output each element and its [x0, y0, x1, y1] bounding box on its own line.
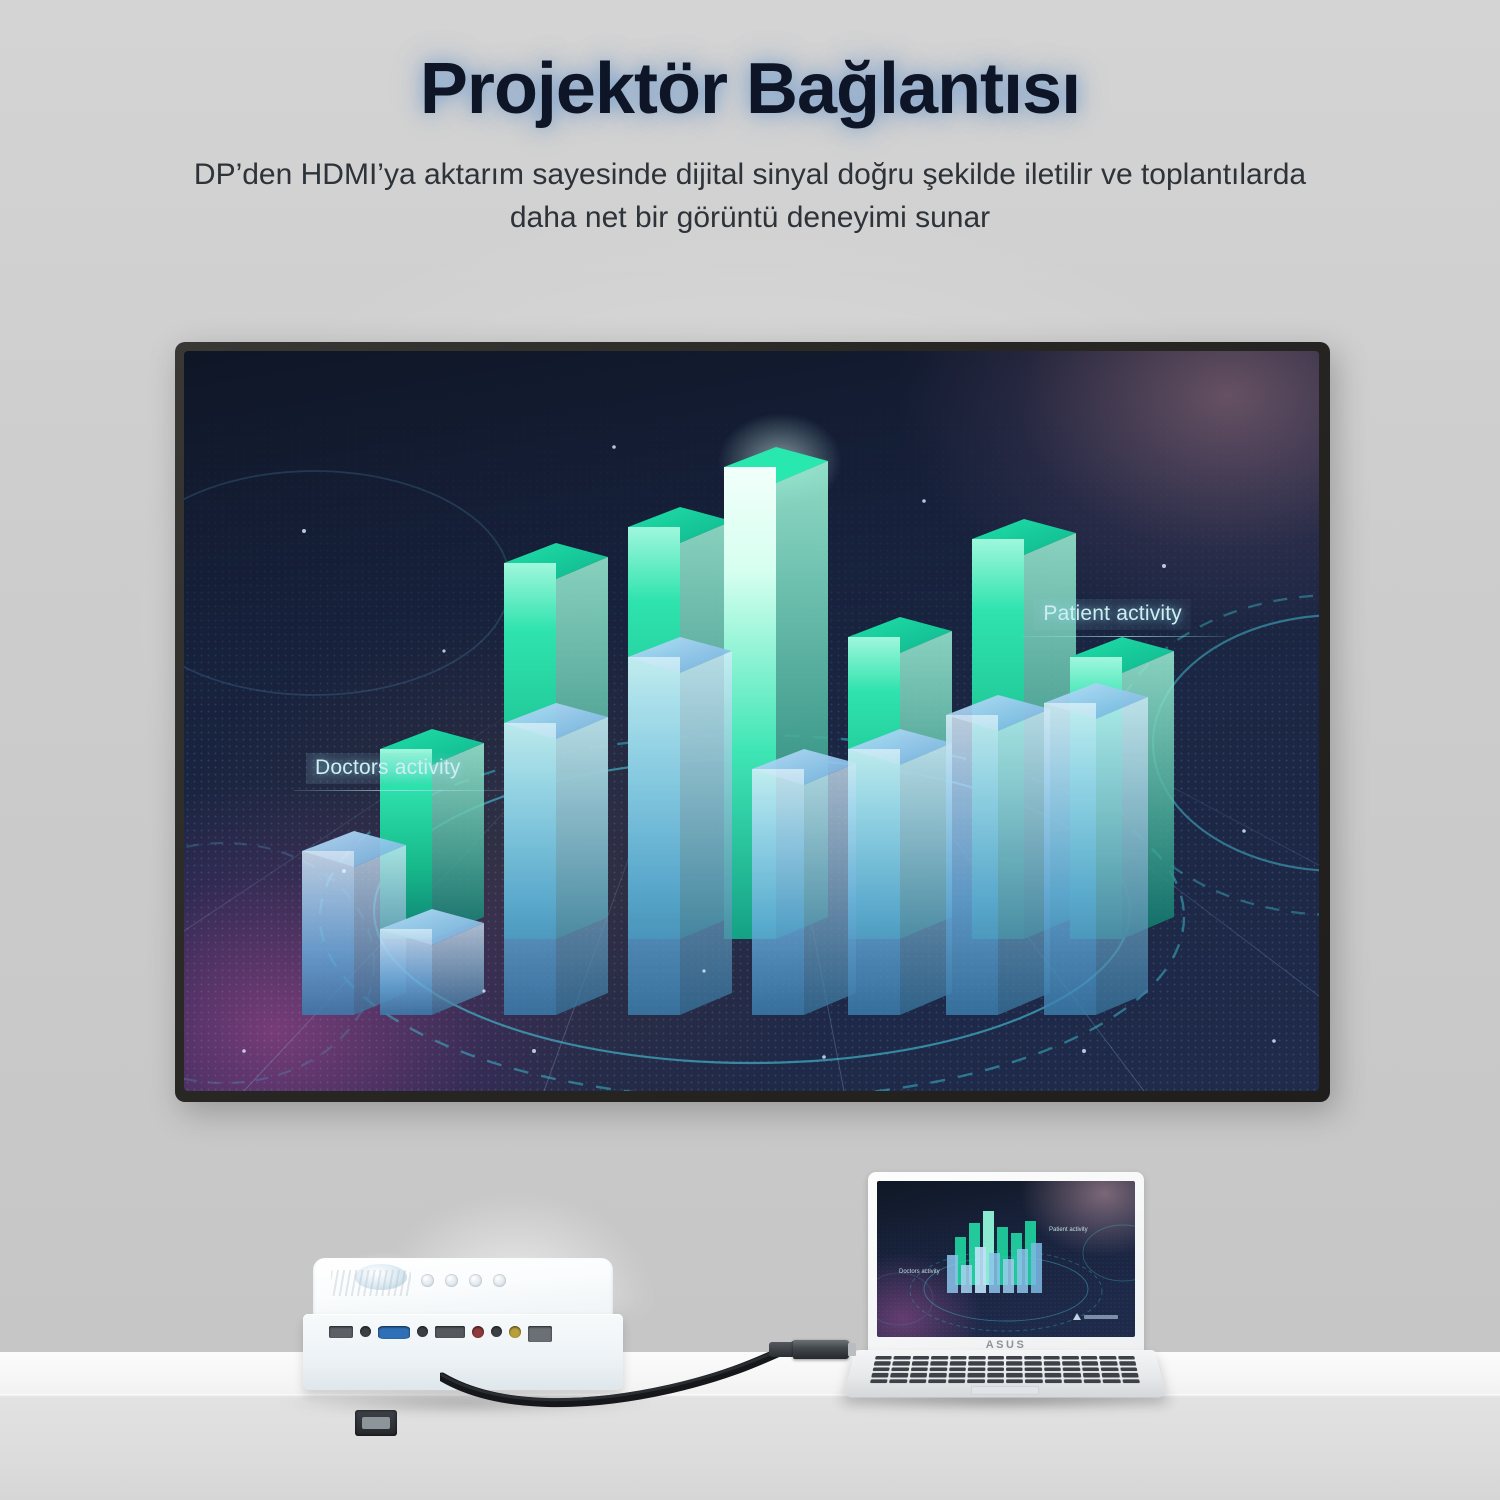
displayport-connector[interactable]: [793, 1340, 849, 1359]
legend-patient-activity: Patient activity: [1034, 599, 1191, 630]
page-title: Projektör Bağlantısı: [0, 48, 1500, 130]
connection-cable: [440, 1315, 860, 1410]
audio-in-port-icon[interactable]: [360, 1326, 371, 1337]
cable-collar: [769, 1342, 795, 1357]
projection-screen: Patient activity Doctors activity: [175, 342, 1330, 1102]
screen-frame: Patient activity Doctors activity: [175, 342, 1330, 1102]
projector-vent: [331, 1270, 411, 1296]
header: Projektör Bağlantısı DP’den HDMI’ya akta…: [0, 0, 1500, 239]
laptop-chart-mirror: Patient activity Doctors activity: [877, 1181, 1135, 1337]
svg-text:Doctors activity: Doctors activity: [899, 1269, 940, 1275]
keyboard-row: [873, 1367, 1138, 1371]
projector-button[interactable]: [493, 1274, 506, 1287]
projector-button[interactable]: [469, 1274, 482, 1287]
keyboard-row: [871, 1373, 1138, 1377]
projector-button[interactable]: [445, 1274, 458, 1287]
screen-surface: Patient activity Doctors activity: [184, 351, 1319, 1091]
laptop-trackpad[interactable]: [971, 1386, 1040, 1395]
projector-control-buttons[interactable]: [421, 1274, 506, 1287]
desk-front-panel: [0, 1397, 1500, 1500]
usb-port-icon[interactable]: [329, 1326, 353, 1338]
page-subtitle: DP’den HDMI’ya aktarım sayesinde dijital…: [160, 154, 1340, 239]
vga-out-port-icon[interactable]: [378, 1326, 410, 1339]
audio-out-port-icon[interactable]: [417, 1326, 428, 1337]
legend-doctors-activity: Doctors activity: [306, 753, 470, 784]
laptop-lid: Patient activity Doctors activity ASUS: [868, 1172, 1144, 1354]
keyboard-row: [874, 1362, 1137, 1366]
keyboard-row: [870, 1379, 1140, 1383]
power-socket-icon[interactable]: [355, 1410, 397, 1436]
laptop-base: [843, 1350, 1166, 1398]
projector-button[interactable]: [421, 1274, 434, 1287]
keyboard-row: [875, 1356, 1135, 1360]
perspective-grid: [184, 351, 1319, 1091]
svg-text:Patient activity: Patient activity: [1049, 1227, 1088, 1233]
projector-top-shell: [313, 1258, 613, 1320]
laptop[interactable]: Patient activity Doctors activity ASUS: [855, 1172, 1155, 1402]
laptop-screen[interactable]: Patient activity Doctors activity: [877, 1181, 1135, 1337]
laptop-keyboard[interactable]: [870, 1356, 1140, 1383]
